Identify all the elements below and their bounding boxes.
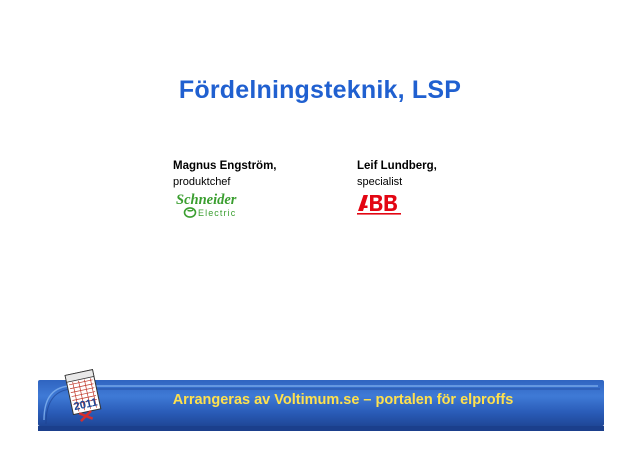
- abb-logo: [357, 194, 401, 216]
- svg-text:Schneider: Schneider: [176, 192, 237, 208]
- presenter-name: Magnus Engström,: [173, 160, 277, 172]
- banner-text: Arrangeras av Voltimum.se – portalen för…: [38, 392, 604, 408]
- slide-canvas: Fördelningsteknik, LSP Magnus Engström, …: [0, 0, 640, 452]
- presenter-block-2: Leif Lundberg, specialist: [357, 160, 437, 188]
- presenter-block-1: Magnus Engström, produktchef: [173, 160, 277, 188]
- svg-text:Electric: Electric: [198, 208, 236, 218]
- presenter-role: produktchef: [173, 176, 277, 188]
- presenter-role: specialist: [357, 176, 437, 188]
- presenter-name: Leif Lundberg,: [357, 160, 437, 172]
- page-title: Fördelningsteknik, LSP: [0, 76, 640, 105]
- calendar-icon: 2011: [62, 368, 106, 426]
- banner-bottom-stripe: [38, 426, 604, 431]
- bottom-banner: Arrangeras av Voltimum.se – portalen för…: [38, 380, 604, 426]
- schneider-electric-logo: Schneider Electric: [176, 192, 262, 218]
